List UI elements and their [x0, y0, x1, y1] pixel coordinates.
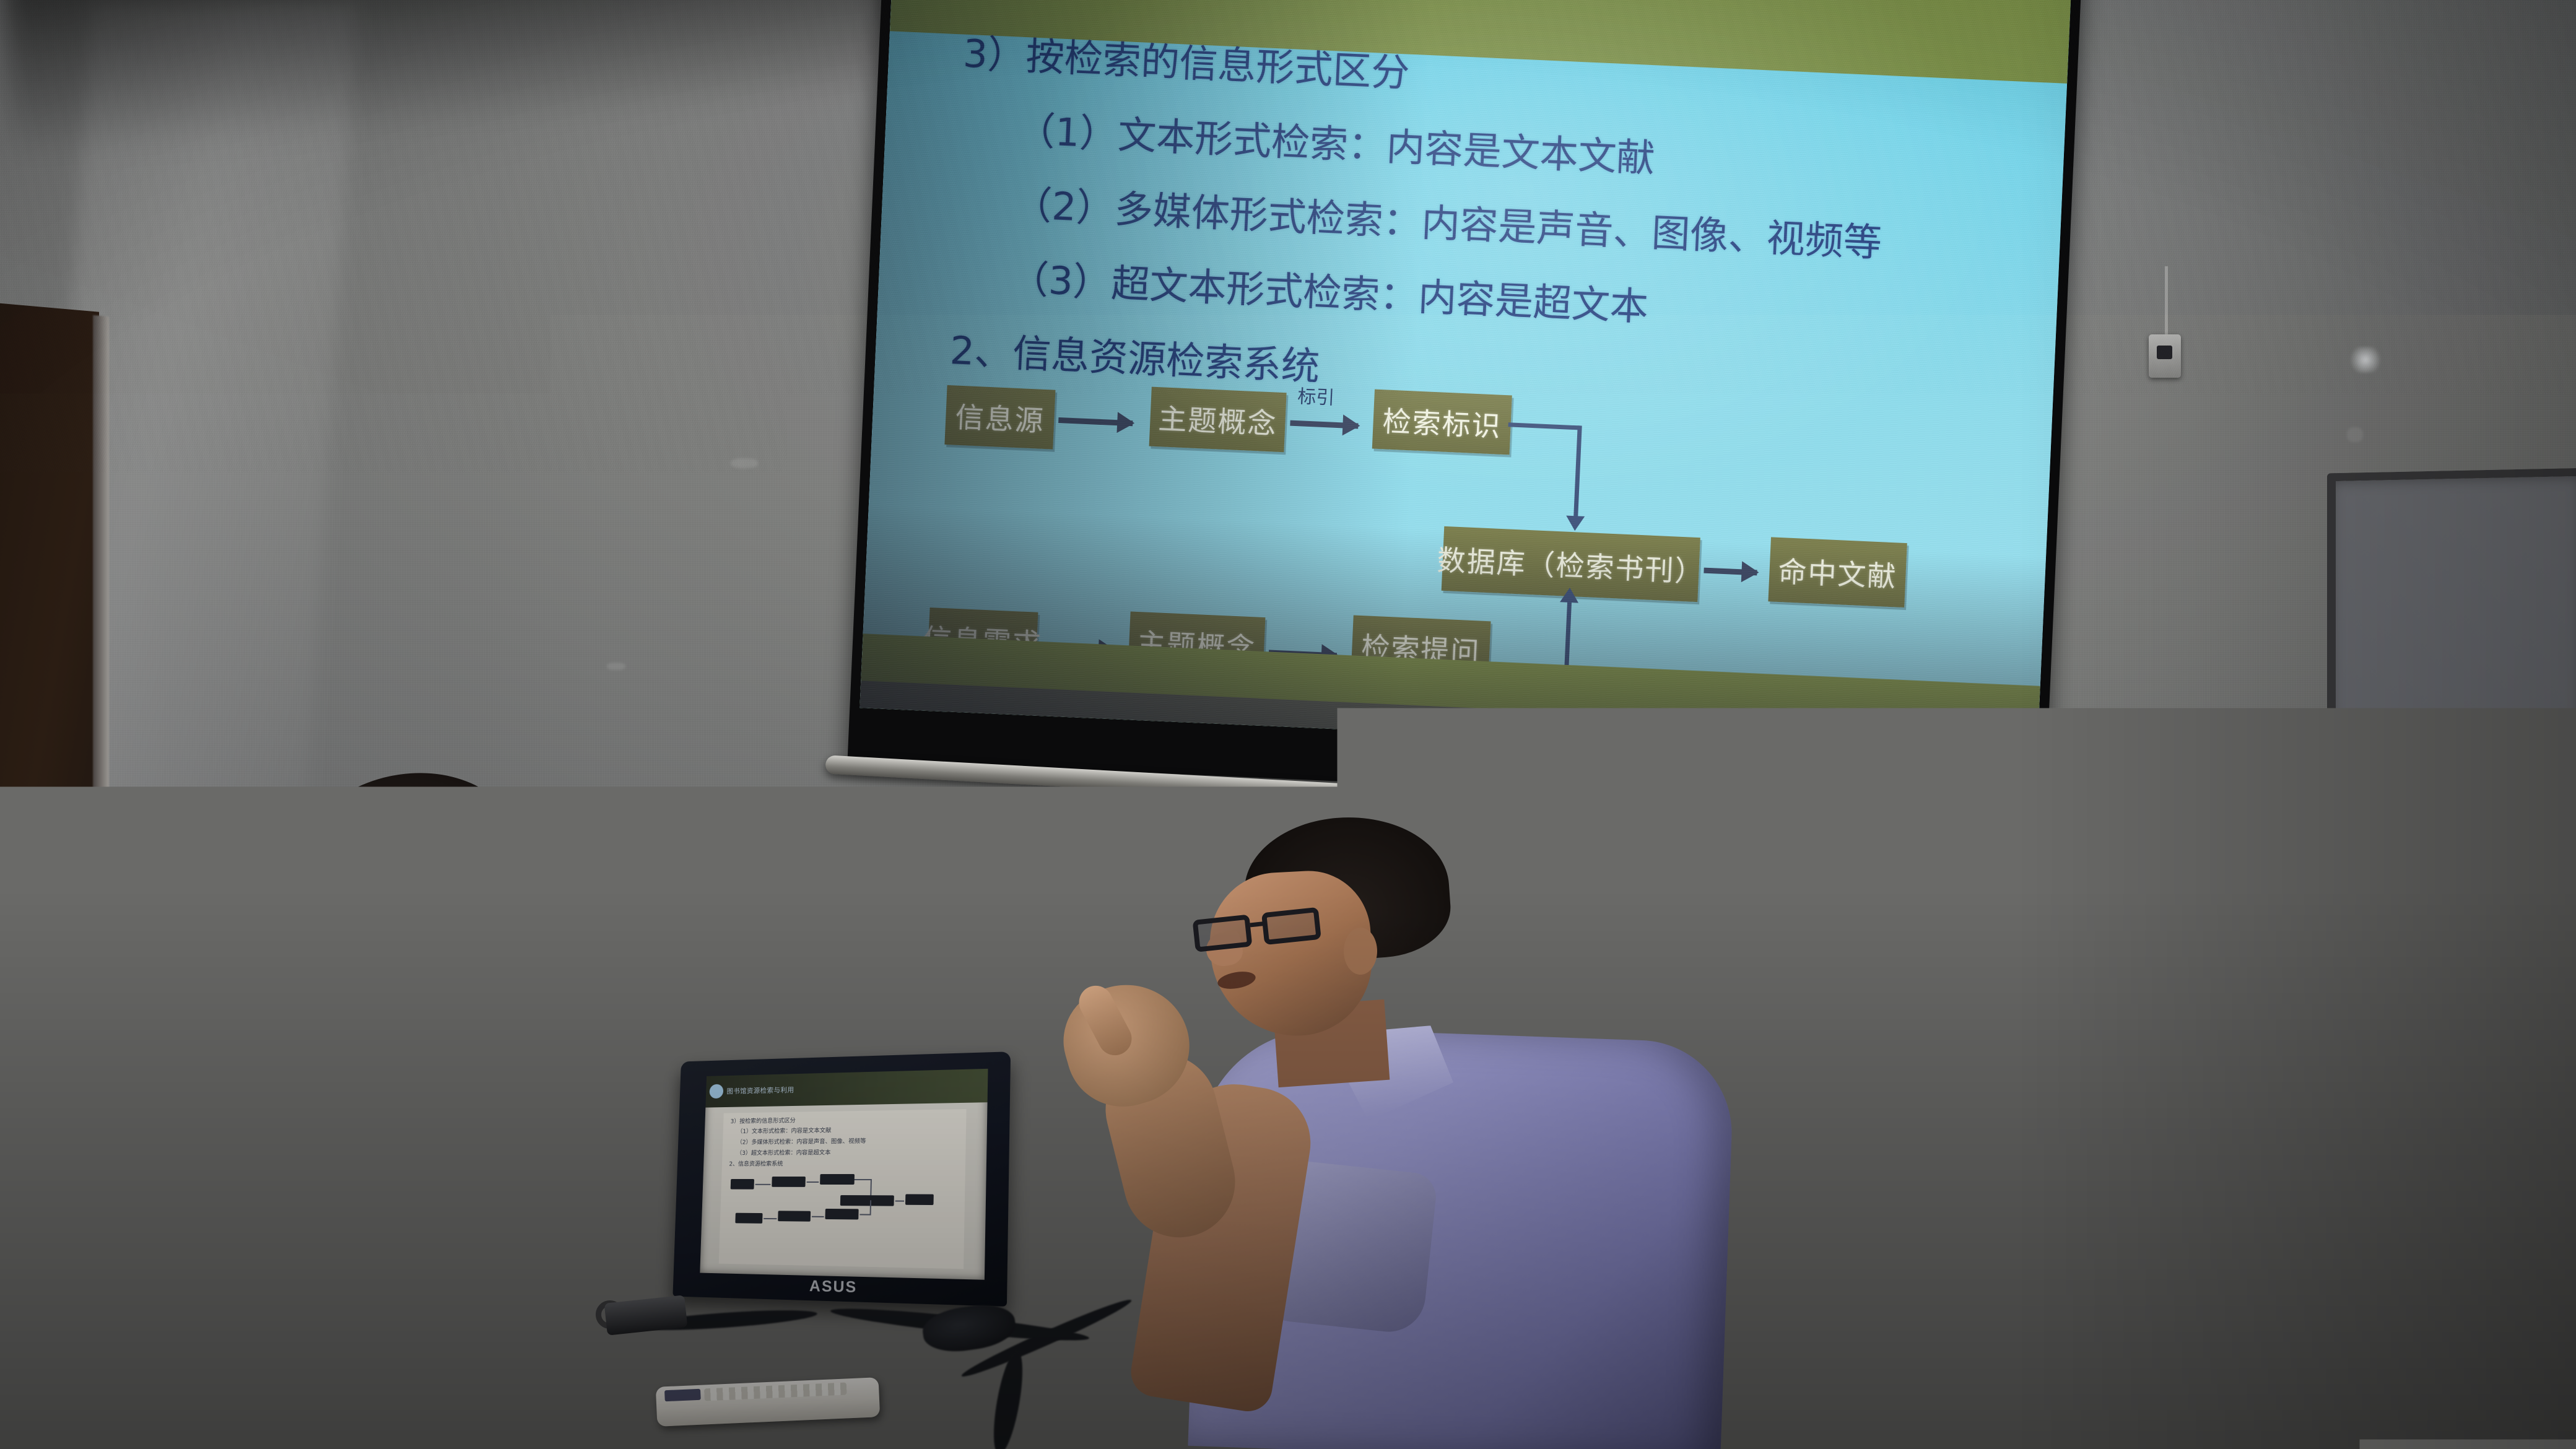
diagram-arrow-right — [1290, 420, 1358, 429]
room-right-shading — [2019, 0, 2576, 1449]
wall-blemish — [607, 663, 625, 670]
diagram-box-subject-concept-top: 主题概念 — [1149, 387, 1287, 453]
screen-black-border: 图书馆资源检索与利用 3）按检索的信息形式区分 （1）文本形式检索：内容是文本文… — [848, 0, 2088, 812]
wall-blemish — [731, 458, 758, 468]
slide-bullet-2: （1）文本形式检索：内容是文本文献 — [1016, 111, 2021, 194]
slide-bullet-4: （3）超文本形式检索：内容是超文本 — [1009, 259, 2014, 342]
slide-bullet-3: （2）多媒体形式检索：内容是声音、图像、视频等 — [1012, 185, 2017, 268]
classroom-photo: 图书馆资源检索与利用 3）按检索的信息形式区分 （1）文本形式检索：内容是文本文… — [0, 0, 2576, 1449]
diagram-arrow-right — [1058, 417, 1133, 426]
diagram-connector-h — [1508, 422, 1582, 430]
diagram-box-search-identifier: 检索标识 — [1372, 389, 1512, 455]
diagram-arrow-right — [1704, 568, 1757, 576]
slide: 图书馆资源检索与利用 3）按检索的信息形式区分 （1）文本形式检索：内容是文本文… — [859, 0, 2078, 760]
diagram-box-hit-documents: 命中文献 — [1768, 537, 1907, 607]
diagram-connector-down — [1573, 425, 1582, 517]
slide-bullet-1: 3）按检索的信息形式区分 — [962, 35, 2024, 120]
diagram-label-indexing: 标引 — [1297, 381, 1336, 410]
screen-surface: 图书馆资源检索与利用 3）按检索的信息形式区分 （1）文本形式检索：内容是文本文… — [859, 0, 2078, 760]
diagram-box-info-source: 信息源 — [944, 385, 1055, 450]
